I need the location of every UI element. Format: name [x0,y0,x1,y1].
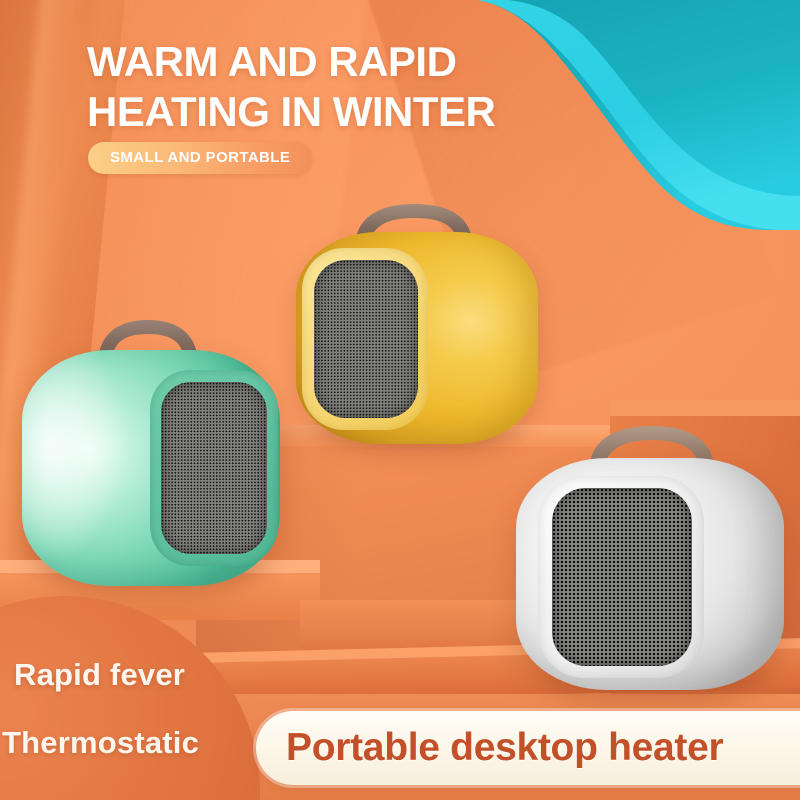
product-name-label: Portable desktop heater [286,722,800,774]
heater-yellow-grille[interactable] [314,260,418,418]
product-heater-teal[interactable] [22,308,292,588]
advertisement-canvas: WARM AND RAPID HEATING IN WINTER SMALL A… [0,0,800,800]
heater-teal-grille[interactable] [161,382,267,554]
product-heater-yellow[interactable] [296,196,546,451]
product-heater-white[interactable] [516,418,796,700]
heater-teal-highlight [22,350,138,586]
page-title: WARM AND RAPID HEATING IN WINTER [87,37,507,137]
feature-label-rapid-fever: Rapid fever [14,657,185,693]
headline-line-2: HEATING IN WINTER [87,87,507,137]
heater-white-grille[interactable] [552,488,692,666]
headline-line-1: WARM AND RAPID [87,38,456,85]
feature-label-thermostatic: Thermostatic [2,725,199,761]
podium-right-top-edge [610,400,800,416]
status-badge: SMALL AND PORTABLE [88,142,312,174]
